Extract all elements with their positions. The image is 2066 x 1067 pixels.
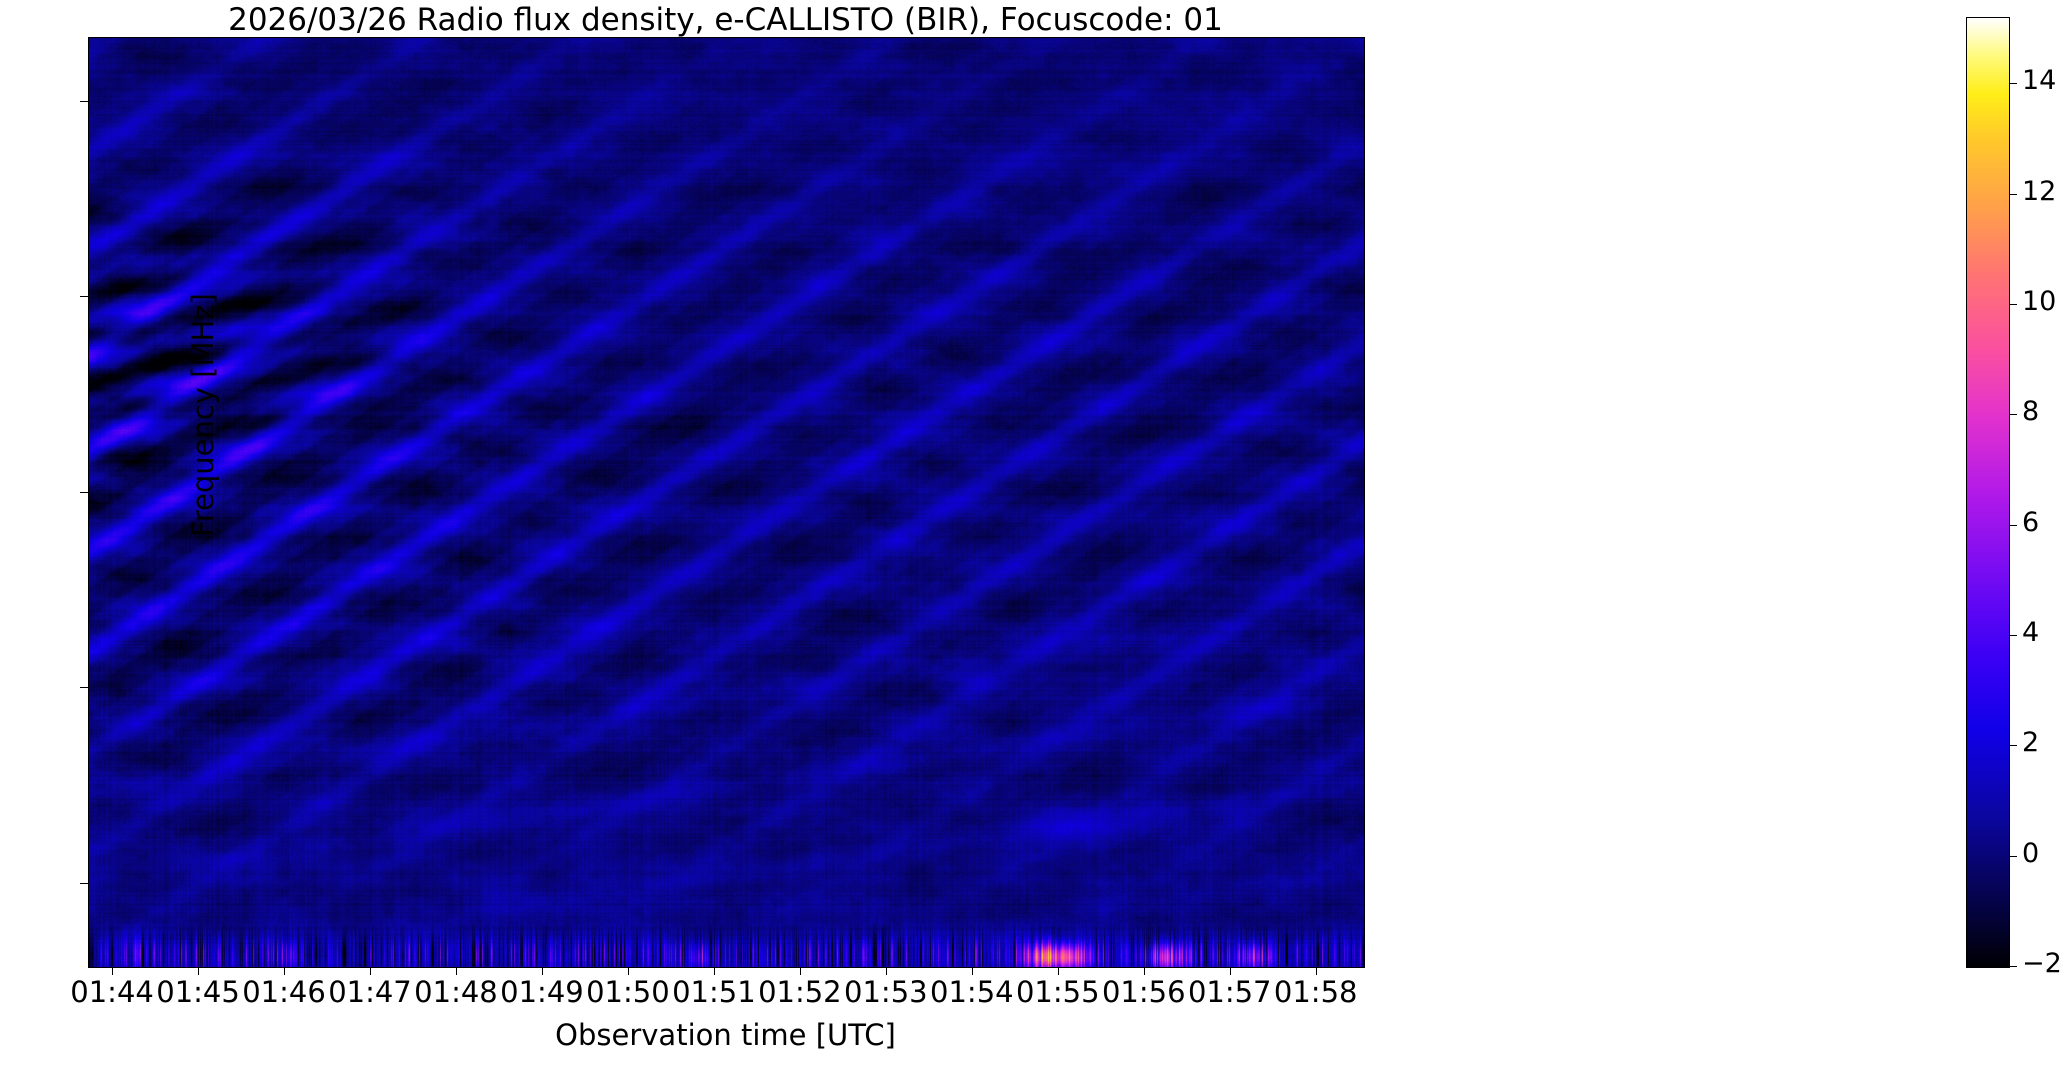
- colorbar-tick-mark: [2009, 745, 2017, 746]
- colorbar-tick-mark: [2009, 525, 2017, 526]
- spectrogram-plot-area[interactable]: [88, 37, 1365, 968]
- x-tick-mark: [972, 967, 973, 975]
- y-tick-mark: [80, 883, 88, 884]
- x-tick-label: 01:58: [1236, 975, 1396, 1009]
- x-tick-mark: [800, 967, 801, 975]
- colorbar-tick-mark: [2009, 414, 2017, 415]
- x-tick-mark: [1230, 967, 1231, 975]
- colorbar-tick-mark: [2009, 304, 2017, 305]
- y-tick-mark: [80, 296, 88, 297]
- colorbar-tick-label: −2: [2022, 948, 2062, 979]
- x-tick-mark: [370, 967, 371, 975]
- x-tick-mark: [1316, 967, 1317, 975]
- x-tick-mark: [714, 967, 715, 975]
- colorbar[interactable]: [1966, 17, 2010, 968]
- colorbar-tick-label: 12: [2022, 176, 2056, 207]
- x-tick-mark: [284, 967, 285, 975]
- colorbar-tick-label: 8: [2022, 396, 2039, 427]
- colorbar-tick-mark: [2009, 194, 2017, 195]
- colorbar-tick-label: 2: [2022, 727, 2039, 758]
- y-axis-label: Frequency [MHz]: [186, 205, 220, 625]
- x-tick-mark: [1058, 967, 1059, 975]
- colorbar-tick-mark: [2009, 83, 2017, 84]
- colorbar-tick-label: 0: [2022, 838, 2039, 869]
- x-tick-mark: [198, 967, 199, 975]
- x-tick-mark: [542, 967, 543, 975]
- y-tick-mark: [80, 687, 88, 688]
- colorbar-tick-label: 10: [2022, 286, 2056, 317]
- x-tick-mark: [886, 967, 887, 975]
- x-tick-mark: [112, 967, 113, 975]
- colorbar-tick-mark: [2009, 856, 2017, 857]
- y-tick-mark: [80, 492, 88, 493]
- colorbar-tick-mark: [2009, 966, 2017, 967]
- colorbar-tick-label: 4: [2022, 617, 2039, 648]
- x-tick-mark: [1144, 967, 1145, 975]
- spectrogram-image: [89, 38, 1364, 967]
- x-tick-mark: [628, 967, 629, 975]
- page-title: 2026/03/26 Radio flux density, e-CALLIST…: [0, 2, 1451, 38]
- colorbar-tick-mark: [2009, 635, 2017, 636]
- x-axis-label: Observation time [UTC]: [88, 1018, 1363, 1052]
- y-tick-mark: [80, 101, 88, 102]
- spectrogram-figure: 2026/03/26 Radio flux density, e-CALLIST…: [0, 0, 2066, 1067]
- x-tick-mark: [456, 967, 457, 975]
- colorbar-tick-label: 14: [2022, 65, 2056, 96]
- colorbar-tick-label: 6: [2022, 507, 2039, 538]
